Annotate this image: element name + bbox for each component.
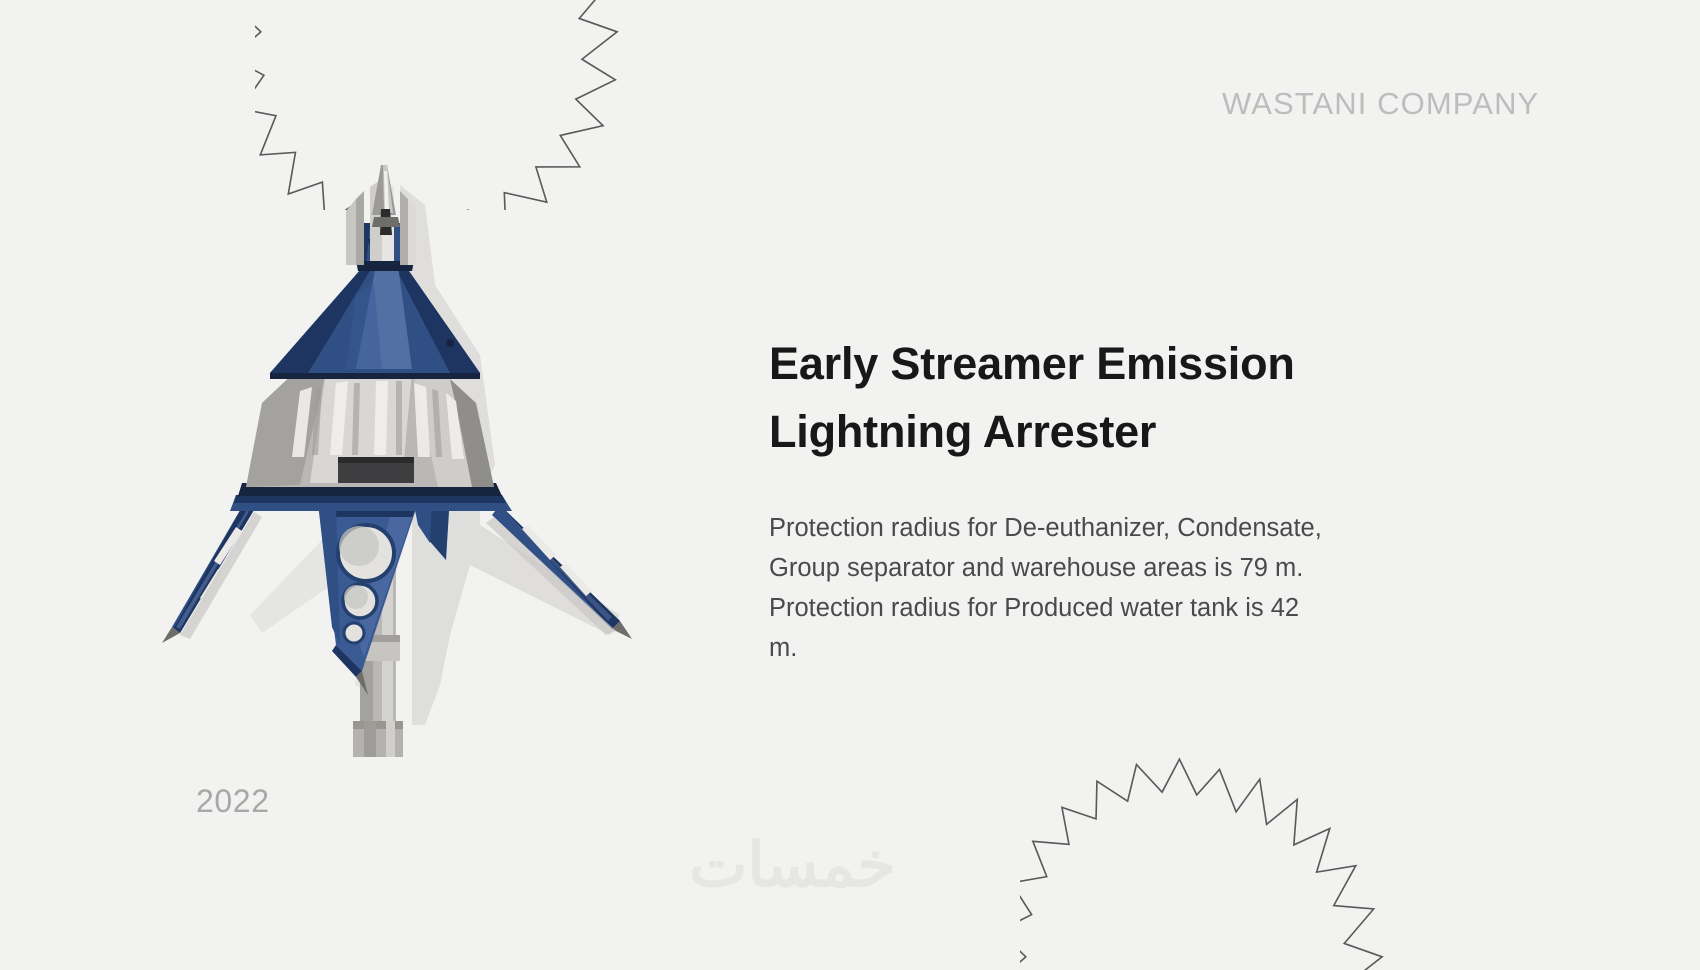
arrester-spike-tip	[372, 165, 400, 235]
company-wordmark: WASTANI COMPANY	[1222, 86, 1539, 122]
lightning-arrester-illustration	[150, 165, 670, 775]
khamsat-watermark: خمسات	[689, 828, 896, 901]
text-content-column: Early Streamer Emission Lightning Arrest…	[769, 330, 1469, 668]
body-description: Protection radius for De-euthanizer, Con…	[769, 467, 1329, 669]
page-title: Early Streamer Emission Lightning Arrest…	[769, 330, 1409, 467]
arrester-collar-ring	[230, 483, 512, 511]
arrester-body-housing	[246, 371, 494, 487]
slide-canvas: WASTANI COMPANY	[0, 0, 1700, 970]
arrester-fin-left	[162, 500, 262, 643]
year-label: 2022	[196, 783, 270, 820]
starburst-decoration-bottom	[1020, 755, 1400, 970]
starburst-bottom-shape	[1020, 759, 1382, 970]
